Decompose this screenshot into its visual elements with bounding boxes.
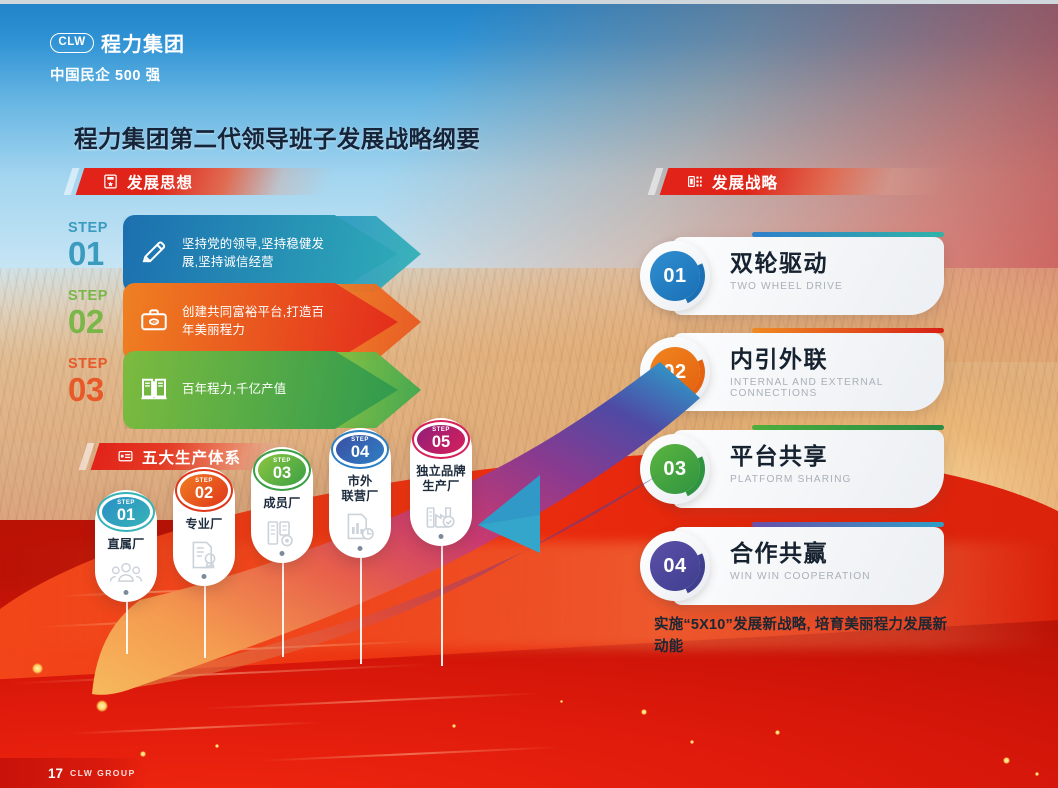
production-pill[interactable]: STEP04市外联营厂 (329, 428, 391, 558)
production-pill-dot (202, 574, 207, 579)
production-pill-ring (97, 492, 155, 532)
production-pill[interactable]: STEP05独立品牌生产厂 (410, 418, 472, 546)
strategy-title-cn: 内引外联 (730, 347, 944, 372)
production-pill-ring (253, 449, 311, 491)
people-group-icon (109, 560, 143, 586)
section-header-production-label: 五大生产体系 (142, 446, 241, 468)
strategy-card-text: 平台共享PLATFORM SHARING (730, 444, 852, 485)
step-text: 坚持党的领导,坚持稳健发展,坚持诚信经营 (182, 236, 334, 272)
step-number: 02 (68, 305, 130, 338)
production-pill-icon (266, 519, 298, 552)
production-pill-label: 市外联营厂 (341, 474, 378, 504)
strategy-card-accent-bar (752, 328, 944, 333)
factory-check-icon (425, 502, 457, 530)
strategy-card-number-badge: 04 (640, 531, 710, 601)
slide-root: CLW 程力集团 中国民企 500 强 程力集团第二代领导班子发展战略纲要 发展… (0, 0, 1058, 788)
production-pill[interactable]: STEP01直属厂 (95, 490, 157, 602)
step-row: STEP03百年程力,千亿产值 (68, 351, 448, 429)
production-pill-icon (109, 560, 143, 591)
production-pill-dot (439, 534, 444, 539)
section-header-ideas: 发展思想 (80, 168, 330, 195)
brand-logo: CLW 程力集团 中国民企 500 强 (50, 28, 185, 85)
step-arrow: CLW创建共同富裕平台,打造百年美丽程力 (123, 283, 448, 361)
section-header-ideas-label: 发展思想 (127, 171, 193, 193)
strategy-card-text: 双轮驱动TWO WHEEL DRIVE (730, 251, 843, 292)
strategy-card-accent-bar (752, 522, 944, 527)
strategy-title-cn: 平台共享 (730, 444, 852, 469)
production-pill-label: 专业厂 (185, 517, 222, 532)
production-pill-badge: STEP04 (336, 435, 384, 464)
production-pill[interactable]: STEP02专业厂 (173, 467, 235, 586)
clw-logo-mark: CLW (50, 33, 94, 53)
step-text: 创建共同富裕平台,打造百年美丽程力 (182, 304, 334, 340)
strategy-card[interactable]: 04合作共赢WIN WIN COOPERATION (672, 527, 944, 605)
strategy-card[interactable]: 01双轮驱动TWO WHEEL DRIVE (672, 237, 944, 315)
strategy-footnote: 实施“5X10”发展新战略, 培育美丽程力发展新动能 (654, 614, 954, 659)
section-header-strategy: 发展战略 (664, 168, 946, 195)
strategy-title-cn: 合作共赢 (730, 541, 871, 566)
svg-text:CLW: CLW (151, 319, 159, 323)
strategy-card-number-badge: 01 (640, 241, 710, 311)
step-label: STEP (68, 221, 130, 236)
strategy-card-accent-bar (752, 425, 944, 430)
production-pill-badge: STEP01 (102, 497, 150, 527)
page-title: 程力集团第二代领导班子发展战略纲要 (74, 120, 480, 154)
strategy-title-en: WIN WIN COOPERATION (730, 571, 871, 582)
production-pill-ring (175, 469, 233, 512)
production-pill-icon (345, 512, 375, 547)
strategy-title-en: TWO WHEEL DRIVE (730, 281, 843, 292)
production-pill-ring (412, 420, 470, 459)
step-number: 01 (68, 237, 130, 270)
step-text: 百年程力,千亿产值 (182, 381, 286, 399)
strategy-card-number-badge: 03 (640, 434, 710, 504)
brand-name-cn: 程力集团 (101, 28, 185, 57)
production-pill-icon (190, 540, 218, 575)
production-system-icon (117, 448, 134, 465)
step-number-block: STEP02 (68, 289, 130, 338)
production-pill-stem (282, 563, 284, 657)
step-number-block: STEP03 (68, 357, 130, 406)
section-header-strategy-label: 发展战略 (712, 171, 778, 193)
production-pill-stem (204, 586, 206, 658)
production-pill-dot (280, 551, 285, 556)
production-pill-label: 成员厂 (263, 496, 300, 511)
strategy-card[interactable]: 02内引外联INTERNAL AND EXTERNAL CONNECTIONS (672, 333, 944, 411)
strategy-chart-icon (686, 173, 704, 190)
development-ideas-steps: STEP01坚持党的领导,坚持稳健发展,坚持诚信经营STEP02CLW创建共同富… (68, 215, 448, 420)
step-label: STEP (68, 357, 130, 372)
production-pill-ring (331, 430, 389, 469)
strategy-title-cn: 双轮驱动 (730, 251, 843, 276)
step-number-block: STEP01 (68, 221, 130, 270)
pencil-icon (139, 237, 169, 267)
production-pill-badge: STEP03 (258, 454, 306, 486)
idea-board-icon (102, 173, 119, 190)
step-row: STEP02CLW创建共同富裕平台,打造百年美丽程力 (68, 283, 448, 361)
strategy-card-text: 内引外联INTERNAL AND EXTERNAL CONNECTIONS (730, 347, 944, 399)
production-pill-dot (124, 590, 129, 595)
step-arrow: 百年程力,千亿产值 (123, 351, 448, 429)
briefcase-icon: CLW (139, 305, 169, 335)
page-number: 17 (48, 766, 63, 781)
top-divider (0, 0, 1058, 4)
production-pill-stem (126, 602, 128, 654)
production-pill-stem (360, 558, 362, 664)
book-icon (139, 373, 169, 403)
step-row: STEP01坚持党的领导,坚持稳健发展,坚持诚信经营 (68, 215, 448, 293)
production-pill-badge: STEP02 (180, 474, 228, 507)
brand-tagline: 中国民企 500 强 (50, 64, 185, 85)
production-pill-dot (358, 546, 363, 551)
strategy-card-number-badge: 02 (640, 337, 710, 407)
strategy-card-accent-bar (752, 232, 944, 237)
strategy-card-text: 合作共赢WIN WIN COOPERATION (730, 541, 871, 582)
strategy-card[interactable]: 03平台共享PLATFORM SHARING (672, 430, 944, 508)
production-pill-badge: STEP05 (417, 425, 465, 454)
step-number: 03 (68, 373, 130, 406)
strategy-title-en: INTERNAL AND EXTERNAL CONNECTIONS (730, 377, 944, 399)
production-pill-label: 直属厂 (107, 537, 144, 552)
report-chart-icon (345, 512, 375, 542)
page-footer: 17 CLW GROUP (0, 758, 147, 788)
production-pill[interactable]: STEP03成员厂 (251, 447, 313, 563)
step-label: STEP (68, 289, 130, 304)
certificate-doc-icon (190, 540, 218, 570)
page-footer-brand: CLW GROUP (70, 768, 136, 778)
production-pill-label: 独立品牌生产厂 (416, 464, 466, 494)
building-check-icon (266, 519, 298, 547)
production-pill-stem (441, 546, 443, 666)
production-pill-icon (425, 502, 457, 535)
step-arrow: 坚持党的领导,坚持稳健发展,坚持诚信经营 (123, 215, 448, 293)
strategy-title-en: PLATFORM SHARING (730, 474, 852, 485)
